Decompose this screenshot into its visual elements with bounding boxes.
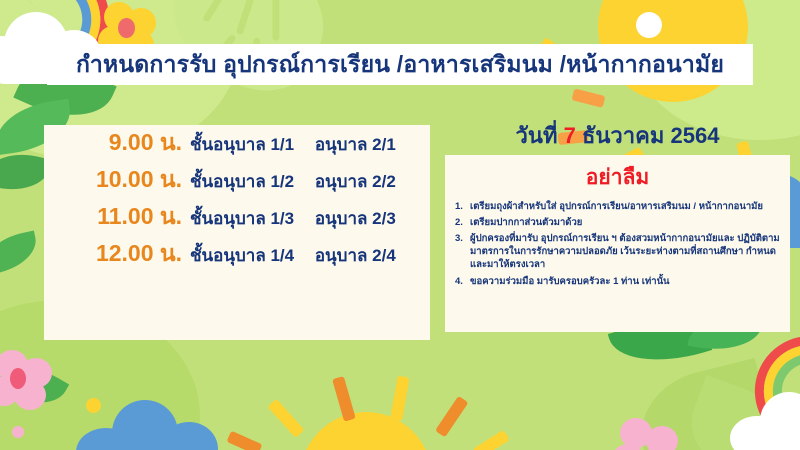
list-item: 2. เตรียมปากกาส่วนตัวมาด้วย xyxy=(455,216,780,229)
reminder-text: เตรียมถุงผ้าสำหรับใส่ อุปกรณ์การเรียน/อา… xyxy=(470,200,780,213)
poster-title-bar: กำหนดการรับ อุปกรณ์การเรียน /อาหารเสริมน… xyxy=(47,44,753,85)
flower-pink-icon xyxy=(0,350,52,410)
reminder-text: ขอความร่วมมือ มารับครอบครัวละ 1 ท่าน เท่… xyxy=(470,275,780,288)
schedule-classes: ชั้นอนุบาล 1/3 อนุบาล 2/3 xyxy=(190,205,396,232)
schedule-classes: ชั้นอนุบาล 1/2 อนุบาล 2/2 xyxy=(190,168,396,195)
date-year: 2564 xyxy=(670,123,719,148)
reminder-number: 2. xyxy=(455,216,470,229)
reminder-text: ผู้ปกครองที่มารับ อุปกรณ์การเรียน ฯ ต้อง… xyxy=(470,232,780,271)
schedule-class-secondary: อนุบาล 2/1 xyxy=(315,135,396,154)
schedule-class-secondary: อนุบาล 2/3 xyxy=(315,209,396,228)
page-title: กำหนดการรับ อุปกรณ์การเรียน /อาหารเสริมน… xyxy=(76,47,724,83)
schedule-row: 11.00 น. ชั้นอนุบาล 1/3 อนุบาล 2/3 xyxy=(44,199,430,236)
sun-rays-bottom xyxy=(248,372,498,450)
leaf-green-icon xyxy=(0,231,41,276)
list-item: 3. ผู้ปกครองที่มารับ อุปกรณ์การเรียน ฯ ต… xyxy=(455,232,780,271)
schedule-row: 10.00 น. ชั้นอนุบาล 1/2 อนุบาล 2/2 xyxy=(44,162,430,199)
schedule-class-secondary: อนุบาล 2/2 xyxy=(315,172,396,191)
schedule-time: 12.00 น. xyxy=(58,236,190,272)
schedule-class-secondary: อนุบาล 2/4 xyxy=(315,246,396,265)
schedule-class-primary: ชั้นอนุบาล 1/2 xyxy=(190,172,294,191)
schedule-class-primary: ชั้นอนุบาล 1/1 xyxy=(190,135,294,154)
reminder-heading: อย่าลืม xyxy=(455,161,780,194)
reminder-number: 1. xyxy=(455,200,470,213)
schedule-class-primary: ชั้นอนุบาล 1/3 xyxy=(190,209,294,228)
reminder-panel: อย่าลืม 1. เตรียมถุงผ้าสำหรับใส่ อุปกรณ์… xyxy=(445,155,790,332)
schedule-classes: ชั้นอนุบาล 1/1 อนุบาล 2/1 xyxy=(190,131,396,158)
poster-canvas: กำหนดการรับ อุปกรณ์การเรียน /อาหารเสริมน… xyxy=(0,0,800,450)
schedule-row: 9.00 น. ชั้นอนุบาล 1/1 อนุบาล 2/1 xyxy=(44,125,430,162)
list-item: 4. ขอความร่วมมือ มารับครอบครัวละ 1 ท่าน … xyxy=(455,275,780,288)
date-prefix: วันที่ xyxy=(516,123,558,148)
reminder-number: 3. xyxy=(455,232,470,271)
schedule-class-primary: ชั้นอนุบาล 1/4 xyxy=(190,246,294,265)
dot-icon xyxy=(12,426,24,438)
schedule-time: 11.00 น. xyxy=(58,199,190,235)
cloud-blue-icon xyxy=(76,396,236,450)
flower-pink-icon xyxy=(612,418,678,450)
reminder-number: 4. xyxy=(455,275,470,288)
schedule-row: 12.00 น. ชั้นอนุบาล 1/4 อนุบาล 2/4 xyxy=(44,236,430,273)
date-month: ธันวาคม xyxy=(582,123,664,148)
cloud-white-icon xyxy=(730,390,800,450)
reminder-text: เตรียมปากกาส่วนตัวมาด้วย xyxy=(470,216,780,229)
schedule-time: 10.00 น. xyxy=(58,162,190,198)
schedule-panel: 9.00 น. ชั้นอนุบาล 1/1 อนุบาล 2/1 10.00 … xyxy=(44,125,430,340)
date-day: 7 xyxy=(564,123,576,148)
sun-icon xyxy=(300,412,432,450)
dot-icon xyxy=(636,12,662,38)
event-date: วันที่ 7 ธันวาคม 2564 xyxy=(445,118,790,153)
schedule-classes: ชั้นอนุบาล 1/4 อนุบาล 2/4 xyxy=(190,242,396,269)
schedule-time: 9.00 น. xyxy=(58,125,190,161)
list-item: 1. เตรียมถุงผ้าสำหรับใส่ อุปกรณ์การเรียน… xyxy=(455,200,780,213)
